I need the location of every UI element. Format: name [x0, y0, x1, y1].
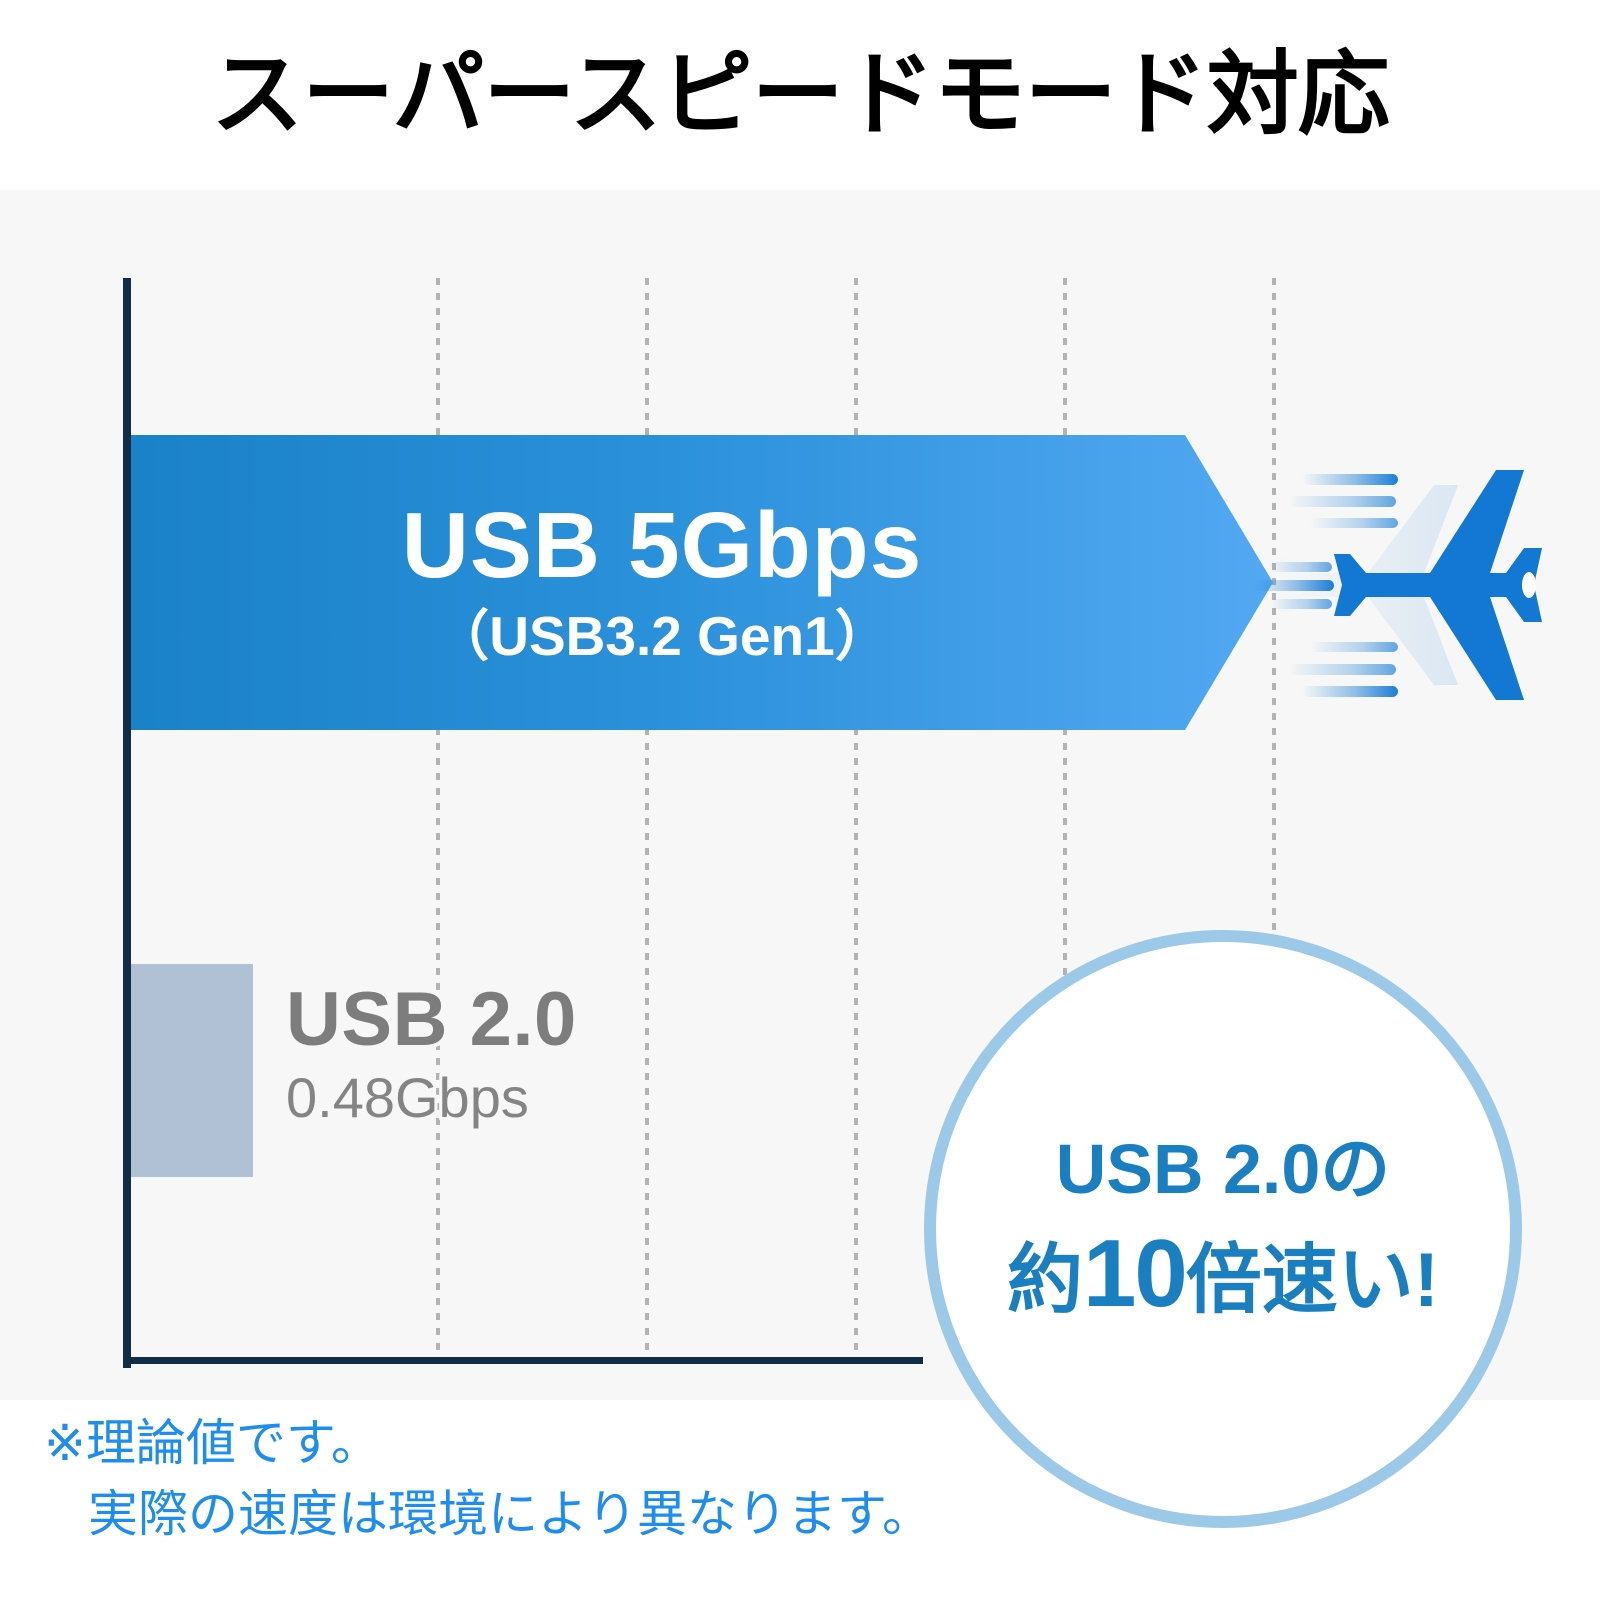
speed-comparison-infographic: スーパースピードモード対応 USB 5Gbps （USB3.2 Gen1） [0, 0, 1600, 1600]
callout-line-1: USB 2.0の [1056, 1130, 1391, 1208]
callout-suffix: 倍速い! [1186, 1238, 1439, 1323]
callout-line-2: 約10倍速い! [1007, 1220, 1439, 1328]
title-band: スーパースピードモード対応 [0, 0, 1600, 190]
bar-usb-2-0-label: USB 2.0 [286, 980, 746, 1061]
bar-usb-2-0 [131, 964, 253, 1177]
page-title: スーパースピードモード対応 [211, 49, 1388, 141]
x-axis-line [123, 1357, 923, 1364]
footnote: ※理論値です。 実際の速度は環境により異なります。 [44, 1408, 1444, 1550]
bar-usb-2-0-labels: USB 2.0 0.48Gbps [286, 980, 746, 1128]
bar-usb-5gbps-sublabel: （USB3.2 Gen1） [434, 605, 889, 668]
bar-usb-5gbps: USB 5Gbps （USB3.2 Gen1） [131, 435, 1273, 730]
footnote-line-2: 実際の速度は環境により異なります。 [44, 1479, 1444, 1550]
callout-prefix: 約 [1007, 1238, 1083, 1323]
y-axis-line [123, 278, 131, 1368]
footnote-line-1: ※理論値です。 [44, 1408, 1444, 1479]
bar-usb-5gbps-label: USB 5Gbps [402, 497, 923, 595]
callout-multiplier: 10 [1083, 1220, 1186, 1327]
airplane-icon [1248, 440, 1548, 730]
bar-usb-2-0-sublabel: 0.48Gbps [286, 1067, 746, 1129]
